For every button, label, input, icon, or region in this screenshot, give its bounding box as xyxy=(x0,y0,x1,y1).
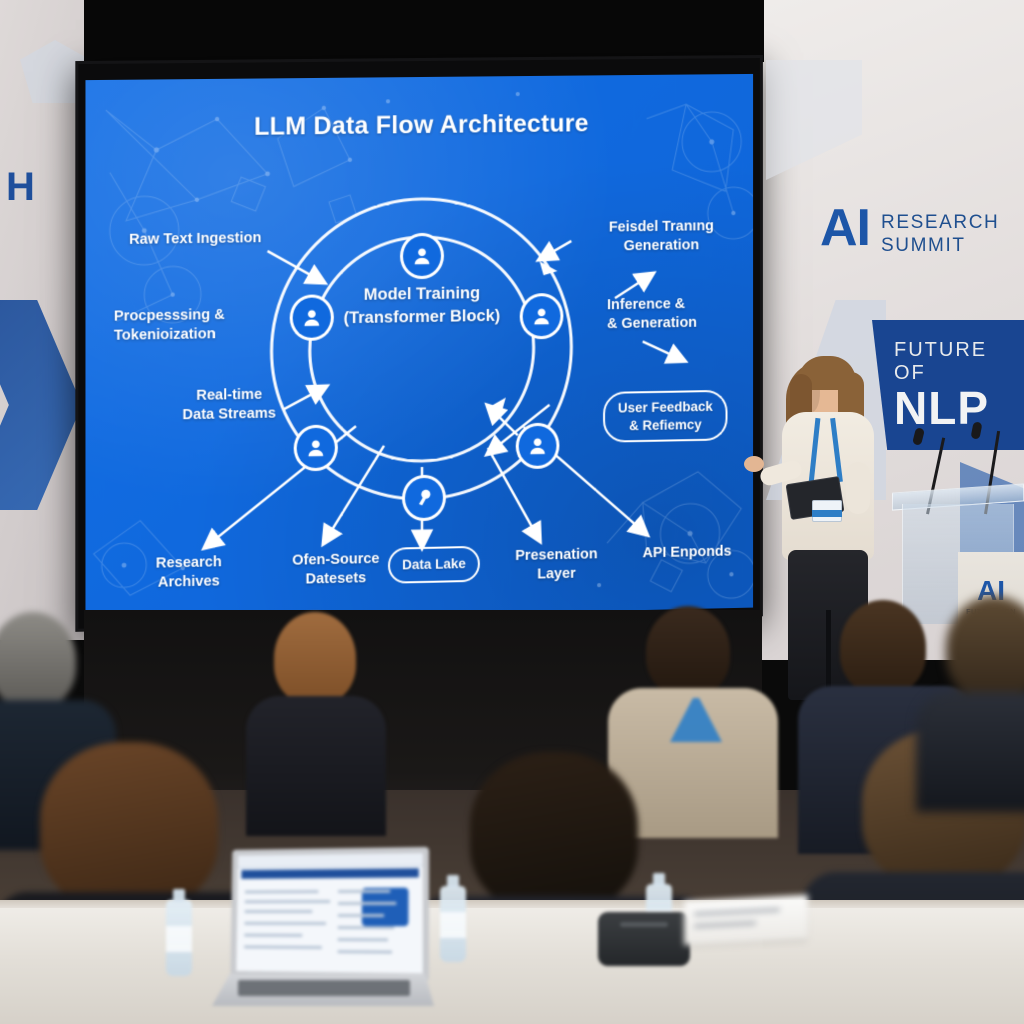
ceiling-dark-strip xyxy=(84,0,764,62)
name-card-line xyxy=(694,908,780,916)
audience-member-8 xyxy=(930,596,1024,796)
conference-table xyxy=(0,908,1024,1024)
bottle-label xyxy=(166,926,192,952)
laptop-text-line xyxy=(338,914,384,917)
audience-head xyxy=(646,606,730,696)
presentation-slide: LLM Data Flow Architecture xyxy=(85,74,753,623)
left-banner-chevron xyxy=(0,300,82,510)
left-banner-letter: H xyxy=(6,165,36,210)
audience-head xyxy=(40,742,218,910)
future-of-nlp-panel: FUTURE OF NLP xyxy=(872,320,1024,450)
audience-member-1 xyxy=(240,612,390,832)
audience-head xyxy=(470,752,638,912)
label-research-archives: Research Archives xyxy=(128,553,249,593)
table-speaker-device xyxy=(598,912,690,966)
water-bottle-left xyxy=(166,900,192,976)
laptop-lid xyxy=(230,847,429,982)
laptop-text-line xyxy=(338,902,396,905)
conference-room-scene: H xyxy=(0,0,1024,1024)
left-wall-banner: H xyxy=(0,0,84,640)
laptop-text-line xyxy=(338,890,390,893)
laptop-browser-toolbar xyxy=(238,853,423,868)
audience-head xyxy=(946,596,1024,700)
audience-head xyxy=(274,612,356,704)
presenter-badge-stripe xyxy=(812,510,842,517)
audience-body xyxy=(916,692,1024,812)
laptop-text-line xyxy=(244,934,302,937)
label-api-endpoints: API Enponds xyxy=(623,542,751,563)
ai-logo-mark: AI xyxy=(820,206,870,252)
laptop-screen[interactable] xyxy=(236,853,423,973)
user-icon xyxy=(301,306,323,328)
user-icon xyxy=(527,435,549,457)
laptop-text-line xyxy=(338,938,388,941)
wall-logo-ai-research-summit: AI RESEARCH SUMMIT xyxy=(820,206,999,257)
table-name-card xyxy=(684,895,808,945)
user-icon xyxy=(531,305,553,327)
laptop-text-line xyxy=(244,945,322,949)
projection-screen: LLM Data Flow Architecture xyxy=(75,55,763,632)
laptop-text-line xyxy=(245,890,318,893)
water-bottle-center xyxy=(440,886,466,962)
laptop-text-line xyxy=(245,910,313,913)
label-inference-generation: Inference & & Generation xyxy=(607,294,753,334)
mic-icon xyxy=(413,487,435,509)
laptop-keyboard[interactable] xyxy=(238,980,410,996)
laptop-text-line xyxy=(338,950,392,954)
laptop-text-line xyxy=(338,926,394,929)
nlp-panel-bottom-text: NLP xyxy=(894,385,1024,431)
label-preprocessing: Procpesssing & Tokenioization xyxy=(114,305,282,345)
ai-logo-text: RESEARCH SUMMIT xyxy=(881,206,999,257)
presenter-arm-right xyxy=(846,462,870,514)
laptop-text-line xyxy=(245,922,326,925)
attendee-laptop[interactable] xyxy=(212,848,434,1024)
label-federated-training: Feisdel Tranıng Generation xyxy=(587,217,735,256)
audience-head xyxy=(0,612,76,708)
name-card-line xyxy=(694,921,756,927)
bottle-label xyxy=(440,912,466,938)
presenter-hand-left xyxy=(744,456,764,472)
pill-user-feedback: User Feedback & Refiemcy xyxy=(603,390,727,443)
nlp-panel-top-text: FUTURE OF xyxy=(894,339,1024,385)
label-open-source-datasets: Ofen-Source Datesets xyxy=(266,549,406,590)
audience-body xyxy=(246,696,386,836)
label-presentation-layer: Presenation Layer xyxy=(492,545,621,585)
audience-head xyxy=(840,600,926,694)
label-realtime-streams: Real-time Data Streams xyxy=(161,385,298,425)
laptop-page-logo xyxy=(362,888,409,927)
user-icon xyxy=(305,437,327,459)
diagram-connectors xyxy=(85,74,753,623)
user-icon xyxy=(411,245,433,267)
label-raw-text-ingestion: Raw Text Ingestion xyxy=(92,229,262,250)
laptop-page-header xyxy=(241,868,418,879)
laptop-text-line xyxy=(245,900,330,903)
